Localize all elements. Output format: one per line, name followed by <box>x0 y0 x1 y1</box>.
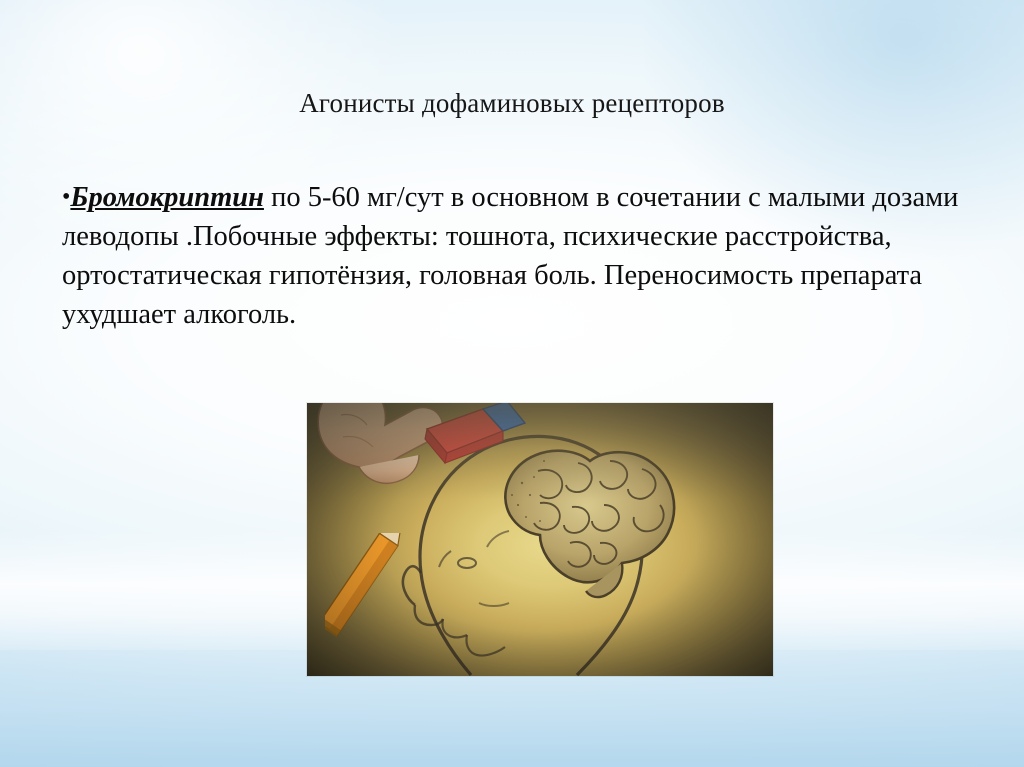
slide: Агонисты дофаминовых рецепторов •Бромокр… <box>0 0 1024 767</box>
lead-term: Бромокриптин <box>70 182 264 213</box>
page-title: Агонисты дофаминовых рецепторов <box>0 88 1024 119</box>
body-text-block: •Бромокриптин по 5-60 мг/сут в основном … <box>62 178 967 334</box>
image-vignette <box>307 403 773 676</box>
slide-image <box>307 403 773 676</box>
